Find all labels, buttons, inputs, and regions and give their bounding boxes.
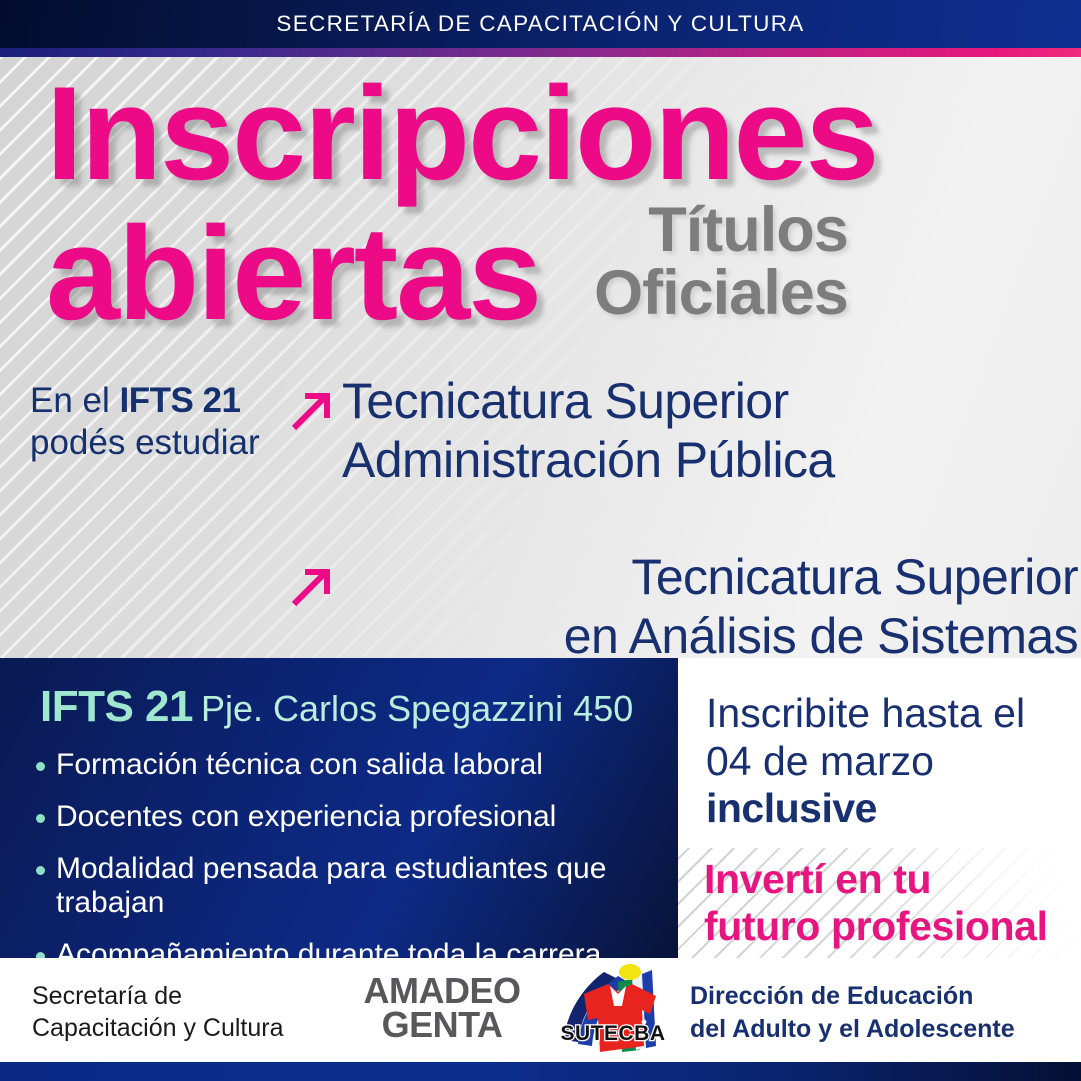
footer-left-line-2: Capacitación y Cultura — [32, 1012, 284, 1044]
headline-row: abiertas Títulos Oficiales — [46, 199, 1066, 339]
footer-secretaria-text: Secretaría de Capacitación y Cultura — [32, 980, 284, 1044]
bottom-accent-bar — [0, 1062, 1081, 1081]
footer-right-line-1: Dirección de Educación — [690, 980, 1015, 1013]
list-item: Formación técnica con salida laboral — [36, 748, 666, 783]
footer-right-line-2: del Adulto y el Adolescente — [690, 1013, 1015, 1046]
intro-block: En el IFTS 21 podés estudiar — [30, 380, 308, 464]
career-line-2: Administración Pública — [342, 431, 835, 490]
footer-left-line-1: Secretaría de — [32, 980, 284, 1012]
deadline-line-3: inclusive — [706, 785, 1076, 833]
institute-address: Pje. Carlos Spegazzini 450 — [201, 688, 633, 729]
main-hero-area: Inscripciones abiertas Títulos Oficiales… — [0, 57, 1081, 658]
header-gradient-strip — [0, 48, 1081, 57]
deadline-panel: Inscribite hasta el 04 de marzo inclusiv… — [678, 658, 1081, 958]
deadline-text: Inscribite hasta el 04 de marzo inclusiv… — [706, 690, 1076, 833]
sutecba-wordmark: SUTECBA — [560, 1022, 665, 1045]
list-item: Modalidad pensada para estudiantes que t… — [36, 852, 666, 922]
subtitle-block: Títulos Oficiales — [594, 199, 848, 339]
poster-canvas: SECRETARÍA DE CAPACITACIÓN Y CULTURA Ins… — [0, 0, 1081, 1081]
footer-direccion-text: Dirección de Educación del Adulto y el A… — [690, 980, 1015, 1045]
institute-name: IFTS 21 — [40, 682, 193, 731]
deadline-line-1: Inscribite hasta — [706, 690, 982, 736]
list-item: Docentes con experiencia profesional — [36, 800, 666, 835]
headline-line-2: abiertas — [46, 211, 540, 339]
sutecba-logo-icon: SUTECBA — [556, 962, 670, 1060]
top-header-bar: SECRETARÍA DE CAPACITACIÓN Y CULTURA — [0, 0, 1081, 48]
arrow-up-right-icon — [288, 564, 334, 610]
arrow-up-right-icon — [288, 388, 334, 434]
amadeo-genta-logo: AMADEO GENTA — [352, 974, 532, 1042]
subtitle-line-1: Títulos — [594, 199, 848, 262]
intro-line-2: podés estudiar — [30, 422, 308, 464]
career-text: Tecnicatura Superior en Análisis de Sist… — [338, 548, 1078, 658]
careers-list: Tecnicatura Superior Administración Públ… — [288, 372, 1078, 658]
cta-line-1: Invertí en tu — [704, 856, 1081, 903]
headline-line-1: Inscripciones — [46, 71, 1066, 199]
amadeo-line-1: AMADEO — [352, 974, 532, 1008]
headline-block: Inscripciones abiertas Títulos Oficiales — [46, 71, 1066, 339]
career-line-1: Tecnicatura Superior — [342, 372, 835, 431]
cta-text: Invertí en tu futuro profesional — [704, 856, 1081, 949]
intro-line-1: En el IFTS 21 — [30, 380, 308, 422]
institute-heading: IFTS 21Pje. Carlos Spegazzini 450 — [40, 682, 633, 732]
career-line-1: Tecnicatura Superior — [631, 549, 1078, 605]
career-line-2: en Análisis de Sistemas — [338, 607, 1078, 658]
footer-bar: Secretaría de Capacitación y Cultura AMA… — [0, 958, 1081, 1062]
career-text: Tecnicatura Superior Administración Públ… — [342, 372, 835, 490]
career-item: Tecnicatura Superior en Análisis de Sist… — [288, 548, 1078, 658]
institute-info-panel: IFTS 21Pje. Carlos Spegazzini 450 Formac… — [0, 658, 678, 958]
intro-prefix: En el — [30, 381, 120, 420]
benefits-list: Formación técnica con salida laboral Doc… — [36, 748, 666, 958]
header-title: SECRETARÍA DE CAPACITACIÓN Y CULTURA — [276, 11, 804, 37]
cta-line-2: futuro profesional — [704, 903, 1081, 950]
list-item: Acompañamiento durante toda la carrera — [36, 938, 666, 958]
intro-institute: IFTS 21 — [120, 381, 241, 420]
subtitle-line-2: Oficiales — [594, 262, 848, 325]
career-item: Tecnicatura Superior Administración Públ… — [288, 372, 1078, 490]
amadeo-line-2: GENTA — [352, 1008, 532, 1042]
